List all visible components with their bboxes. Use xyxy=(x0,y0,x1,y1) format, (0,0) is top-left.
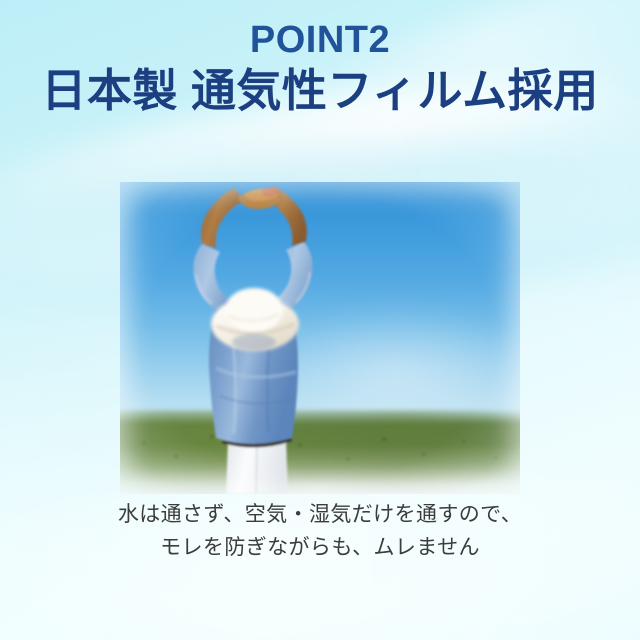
caption-line-2: モレを防ぎながらも、ムレません xyxy=(0,531,640,564)
point-label: POINT2 xyxy=(0,18,640,62)
hero-photo-inner xyxy=(120,182,520,494)
hero-photo xyxy=(120,182,520,494)
heading-block: POINT2 日本製 通気性フィルム採用 xyxy=(0,18,640,117)
page-title: 日本製 通気性フィルム採用 xyxy=(0,65,640,117)
photo-person-figure xyxy=(120,182,520,494)
promo-poster: POINT2 日本製 通気性フィルム採用 xyxy=(0,0,640,640)
caption-line-1: 水は通さず、空気・湿気だけを通すので、 xyxy=(0,498,640,531)
caption-block: 水は通さず、空気・湿気だけを通すので、 モレを防ぎながらも、ムレません xyxy=(0,498,640,564)
